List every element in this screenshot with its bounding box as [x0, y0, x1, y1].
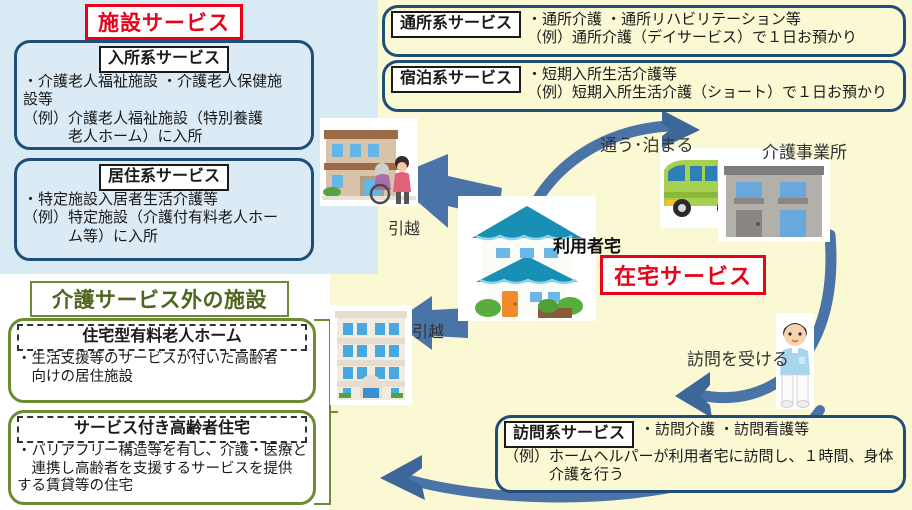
card-residential-tag: 居住系サービス	[99, 164, 229, 191]
card-visiting-inline-body: ・訪問介護 ・訪問看護等	[640, 421, 809, 439]
card-paid-nursing-home-tag: 住宅型有料老人ホーム	[17, 324, 307, 351]
card-senior-housing[interactable]: サービス付き高齢者住宅 ・バリアフリー構造等を有し、介護・医療と 連携し高齢者を…	[8, 410, 316, 505]
card-senior-housing-body: ・バリアフリー構造等を有し、介護・医療と 連携し高齢者を支援するサービスを提供 …	[17, 443, 307, 496]
label-receive-visit: 訪問を受ける	[687, 345, 789, 370]
card-visiting-body: （例）ホームヘルパーが利用者宅に訪問し、１時間、身体 介護を行う	[504, 448, 897, 485]
user-house-icon	[458, 196, 596, 321]
card-residential-body: ・特定施設入居者生活介護等 （例）特定施設（介護付有料老人ホー ム等）に入所	[23, 191, 305, 246]
apartment-building-icon	[330, 305, 412, 405]
card-overnight-service[interactable]: 宿泊系サービス ・短期入所生活介護等 （例）短期入所生活介護（ショート）で１日お…	[382, 60, 906, 112]
card-admission-service[interactable]: 入所系サービス ・介護老人福祉施設 ・介護老人保健施 設等 （例）介護老人福祉施…	[14, 40, 314, 150]
card-daycare-body: ・通所介護 ・通所リハビリテーション等 （例）通所介護（デイサービス）で１日お預…	[527, 11, 857, 48]
label-care-office: 介護事業所	[762, 138, 847, 163]
label-user-home: 利用者宅	[553, 232, 621, 257]
care-office-building-icon	[718, 160, 830, 242]
page-title-home-service: 在宅サービス	[600, 255, 766, 295]
page-title-non-care-facility: 介護サービス外の施設	[30, 281, 289, 317]
card-overnight-body: ・短期入所生活介護等 （例）短期入所生活介護（ショート）で１日お預かり	[527, 66, 887, 103]
label-commute-stay: 通う･泊まる	[600, 131, 694, 156]
card-residential-service[interactable]: 居住系サービス ・特定施設入居者生活介護等 （例）特定施設（介護付有料老人ホー …	[14, 158, 314, 261]
card-visiting-service[interactable]: 訪問系サービス ・訪問介護 ・訪問看護等 （例）ホームヘルパーが利用者宅に訪問し…	[495, 415, 906, 493]
care-facility-building-icon	[320, 118, 418, 206]
card-overnight-tag: 宿泊系サービス	[391, 66, 521, 93]
card-paid-nursing-home-body: ・生活支援等のサービスが付いた高齢者 向けの居住施設	[17, 351, 307, 386]
page-title-facility-service: 施設サービス	[85, 4, 243, 40]
card-admission-body: ・介護老人福祉施設 ・介護老人保健施 設等 （例）介護老人福祉施設（特別養護 老…	[23, 73, 305, 146]
card-daycare-tag: 通所系サービス	[391, 11, 521, 38]
card-visiting-tag: 訪問系サービス	[504, 421, 634, 448]
card-daycare-service[interactable]: 通所系サービス ・通所介護 ・通所リハビリテーション等 （例）通所介護（デイサー…	[382, 5, 906, 57]
card-senior-housing-tag: サービス付き高齢者住宅	[17, 416, 307, 443]
label-move-bottom: 引越	[412, 318, 444, 342]
label-move-top: 引越	[388, 215, 420, 239]
card-admission-tag: 入所系サービス	[99, 46, 229, 73]
card-paid-nursing-home[interactable]: 住宅型有料老人ホーム ・生活支援等のサービスが付いた高齢者 向けの居住施設	[8, 318, 316, 403]
